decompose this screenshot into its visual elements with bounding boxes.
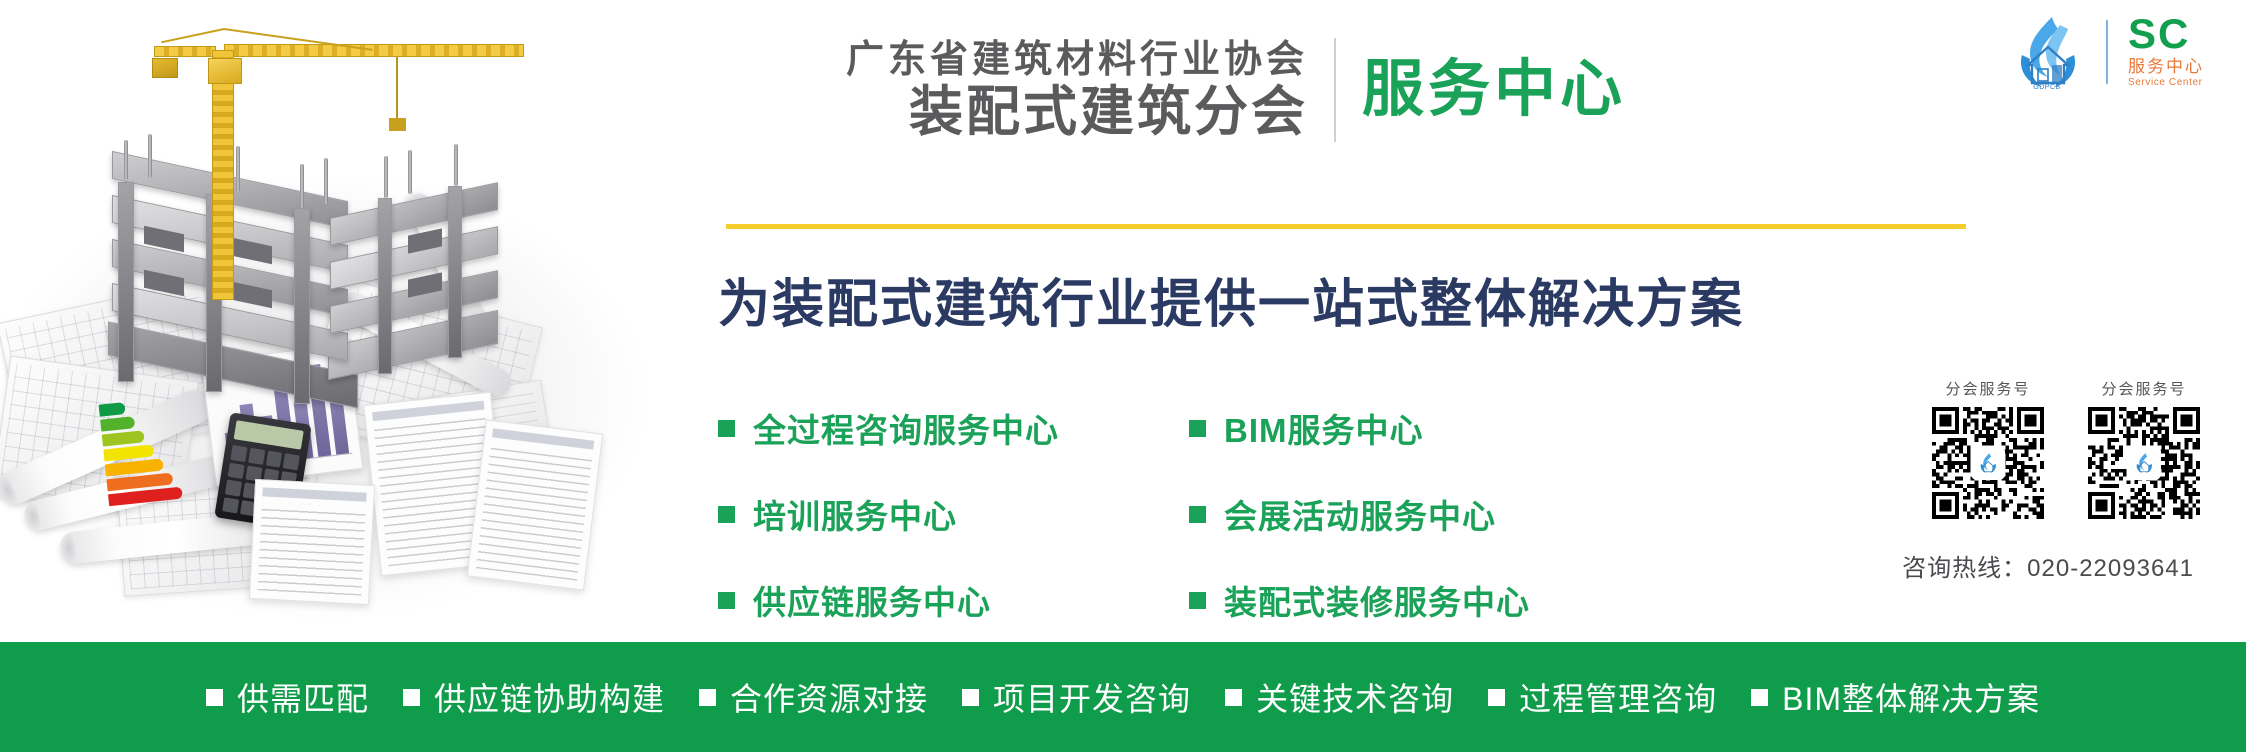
logo-sc-text: SC [2128, 14, 2190, 54]
crane-hook-block [389, 118, 406, 131]
footer-item-label: 关键技术咨询 [1256, 674, 1454, 720]
bullet-square-icon [206, 689, 223, 706]
qr-code-group: 分会服务号 分会服务号 [1932, 378, 2200, 519]
crane-mast [212, 50, 234, 300]
bullet-square-icon [1189, 420, 1206, 437]
service-item[interactable]: 全过程咨询服务中心 [718, 404, 1059, 452]
header-title-group: 广东省建筑材料行业协会 装配式建筑分会 服务中心 [846, 38, 1626, 142]
service-item-label: 装配式装修服务中心 [1224, 576, 1530, 624]
hotline-text: 咨询热线：020-22093641 [1902, 548, 2194, 583]
energy-rating-chart [99, 396, 196, 512]
service-item[interactable]: 培训服务中心 [718, 490, 1059, 538]
bullet-square-icon [403, 689, 420, 706]
qr-center-logo-icon [1973, 448, 2003, 478]
service-item-label: 会展活动服务中心 [1224, 490, 1496, 538]
footer-item[interactable]: 合作资源对接 [699, 674, 928, 720]
footer-item-label: BIM整体解决方案 [1782, 674, 2040, 720]
logo-english-text: Service Center [2128, 77, 2203, 89]
energy-bar [103, 444, 154, 461]
calculator-screen [234, 420, 304, 449]
association-name: 广东省建筑材料行业协会 装配式建筑分会 [846, 39, 1308, 140]
qr-code-caption: 分会服务号 [1945, 378, 2030, 399]
footer-item-label: 供需匹配 [237, 674, 369, 720]
bullet-square-icon [1488, 689, 1505, 706]
association-name-line1: 广东省建筑材料行业协会 [846, 39, 1308, 82]
footer-item[interactable]: 供应链协助构建 [403, 674, 665, 720]
footer-item[interactable]: 关键技术咨询 [1225, 674, 1454, 720]
logo-divider [2106, 20, 2108, 84]
service-item-label: 培训服务中心 [753, 490, 957, 538]
qr-code-item[interactable]: 分会服务号 [1932, 378, 2044, 519]
bullet-square-icon [1189, 592, 1206, 609]
bullet-square-icon [1225, 689, 1242, 706]
qr-code-image[interactable] [2088, 407, 2200, 519]
service-item[interactable]: 供应链服务中心 [718, 576, 1059, 624]
bullet-square-icon [718, 592, 735, 609]
service-center-lists: 全过程咨询服务中心 培训服务中心 供应链服务中心 BIM服务中心 会展活动服务中… [718, 404, 1530, 624]
tower-crane [150, 8, 550, 308]
crane-counterweight [152, 58, 178, 78]
footer-item-label: 过程管理咨询 [1519, 674, 1717, 720]
qr-code-caption: 分会服务号 [2101, 378, 2186, 399]
spec-form-sheet [467, 419, 603, 590]
service-item-label: 供应链服务中心 [753, 576, 991, 624]
service-item-label: 全过程咨询服务中心 [753, 404, 1059, 452]
service-item-label: BIM服务中心 [1224, 404, 1424, 452]
footer-item[interactable]: 供需匹配 [206, 674, 369, 720]
brand-logo[interactable]: GDPCB SC 服务中心 Service Center [2008, 14, 2204, 89]
crane-cabin [208, 58, 242, 84]
qr-center-logo-icon [2129, 448, 2159, 478]
service-item[interactable]: 会展活动服务中心 [1189, 490, 1530, 538]
header-divider [1334, 38, 1336, 142]
bullet-square-icon [718, 420, 735, 437]
qr-code-item[interactable]: 分会服务号 [2088, 378, 2200, 519]
footer-item[interactable]: BIM整体解决方案 [1751, 674, 2040, 720]
page-tagline: 为装配式建筑行业提供一站式整体解决方案 [718, 262, 1744, 337]
footer-item-label: 合作资源对接 [730, 674, 928, 720]
bullet-square-icon [1189, 506, 1206, 523]
footer-item-label: 项目开发咨询 [993, 674, 1191, 720]
bullet-square-icon [1751, 689, 1768, 706]
crane-jib [224, 44, 524, 57]
yellow-divider-rule [726, 224, 1966, 229]
service-item[interactable]: BIM服务中心 [1189, 404, 1530, 452]
bullet-square-icon [962, 689, 979, 706]
association-name-line2: 装配式建筑分会 [909, 84, 1308, 141]
footer-service-bar: 供需匹配 供应链协助构建 合作资源对接 项目开发咨询 关键技术咨询 过程管理咨询… [0, 642, 2246, 752]
crane-counter-jib [154, 46, 216, 57]
house-flame-icon: GDPCB [2008, 15, 2086, 89]
footer-item[interactable]: 项目开发咨询 [962, 674, 1191, 720]
crane-hook-line [396, 57, 398, 121]
energy-bar [102, 430, 145, 446]
spec-form-sheet [249, 479, 375, 605]
service-list-right: BIM服务中心 会展活动服务中心 装配式装修服务中心 [1189, 404, 1530, 624]
bullet-square-icon [699, 689, 716, 706]
service-item[interactable]: 装配式装修服务中心 [1189, 576, 1530, 624]
hero-illustration [0, 0, 700, 640]
bullet-square-icon [718, 506, 735, 523]
service-list-left: 全过程咨询服务中心 培训服务中心 供应链服务中心 [718, 404, 1059, 624]
service-center-title: 服务中心 [1362, 59, 1626, 121]
logo-mark-caption: GDPCB [2006, 84, 2088, 91]
logo-chinese-text: 服务中心 [2128, 56, 2204, 77]
banner-root: 广东省建筑材料行业协会 装配式建筑分会 服务中心 为装配式建筑行业提供一站式整体… [0, 0, 2246, 752]
energy-bar [100, 416, 135, 431]
footer-item-label: 供应链协助构建 [434, 674, 665, 720]
logo-wordmark: SC 服务中心 Service Center [2128, 14, 2204, 89]
qr-code-image[interactable] [1932, 407, 2044, 519]
footer-item[interactable]: 过程管理咨询 [1488, 674, 1717, 720]
